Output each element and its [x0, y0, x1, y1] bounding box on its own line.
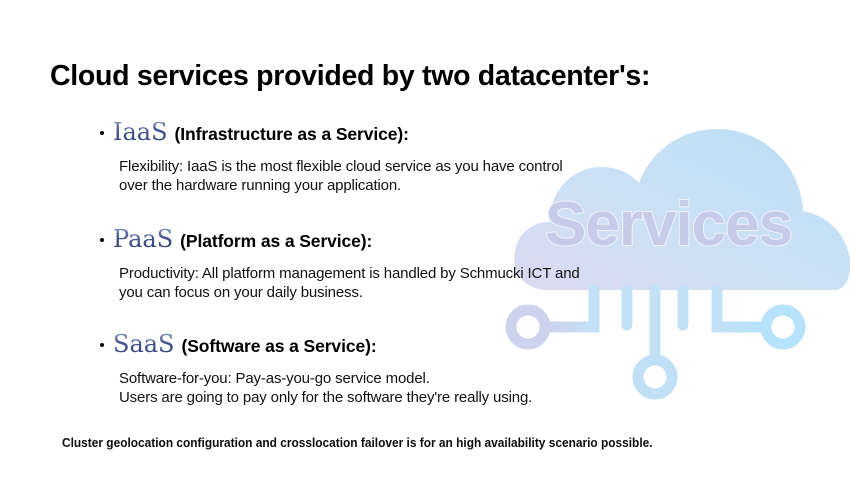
- service-block-paas: PaaS (Platform as a Service): Productivi…: [100, 225, 580, 302]
- service-expansion-paas: (Platform as a Service):: [180, 231, 372, 252]
- service-body-paas: Productivity: All platform management is…: [119, 264, 580, 302]
- page-title: Cloud services provided by two datacente…: [50, 60, 650, 93]
- service-acronym-saas: SaaS: [113, 330, 175, 358]
- bullet-dot-icon: [100, 131, 104, 135]
- service-heading-saas: SaaS (Software as a Service):: [100, 330, 532, 358]
- service-body-iaas: Flexibility: IaaS is the most flexible c…: [119, 157, 563, 195]
- circuit-node-bottom: [638, 360, 672, 394]
- service-heading-iaas: IaaS (Infrastructure as a Service):: [100, 118, 563, 146]
- service-acronym-paas: PaaS: [113, 225, 173, 253]
- circuit-node-right: [766, 310, 800, 344]
- bullet-dot-icon: [100, 343, 104, 347]
- service-heading-paas: PaaS (Platform as a Service):: [100, 225, 580, 253]
- service-acronym-iaas: IaaS: [113, 118, 168, 146]
- service-expansion-iaas: (Infrastructure as a Service):: [175, 124, 409, 145]
- footer-note: Cluster geolocation configuration and cr…: [62, 435, 653, 450]
- cloud-services-label: Services: [545, 190, 792, 259]
- circuit-lines: [511, 290, 800, 394]
- bullet-dot-icon: [100, 238, 104, 242]
- slide-canvas: Services Cloud services provided by two …: [0, 0, 850, 498]
- service-block-iaas: IaaS (Infrastructure as a Service): Flex…: [100, 118, 563, 195]
- service-block-saas: SaaS (Software as a Service): Software-f…: [100, 330, 532, 407]
- service-expansion-saas: (Software as a Service):: [182, 336, 377, 357]
- service-body-saas: Software-for-you: Pay-as-you-go service …: [119, 369, 532, 407]
